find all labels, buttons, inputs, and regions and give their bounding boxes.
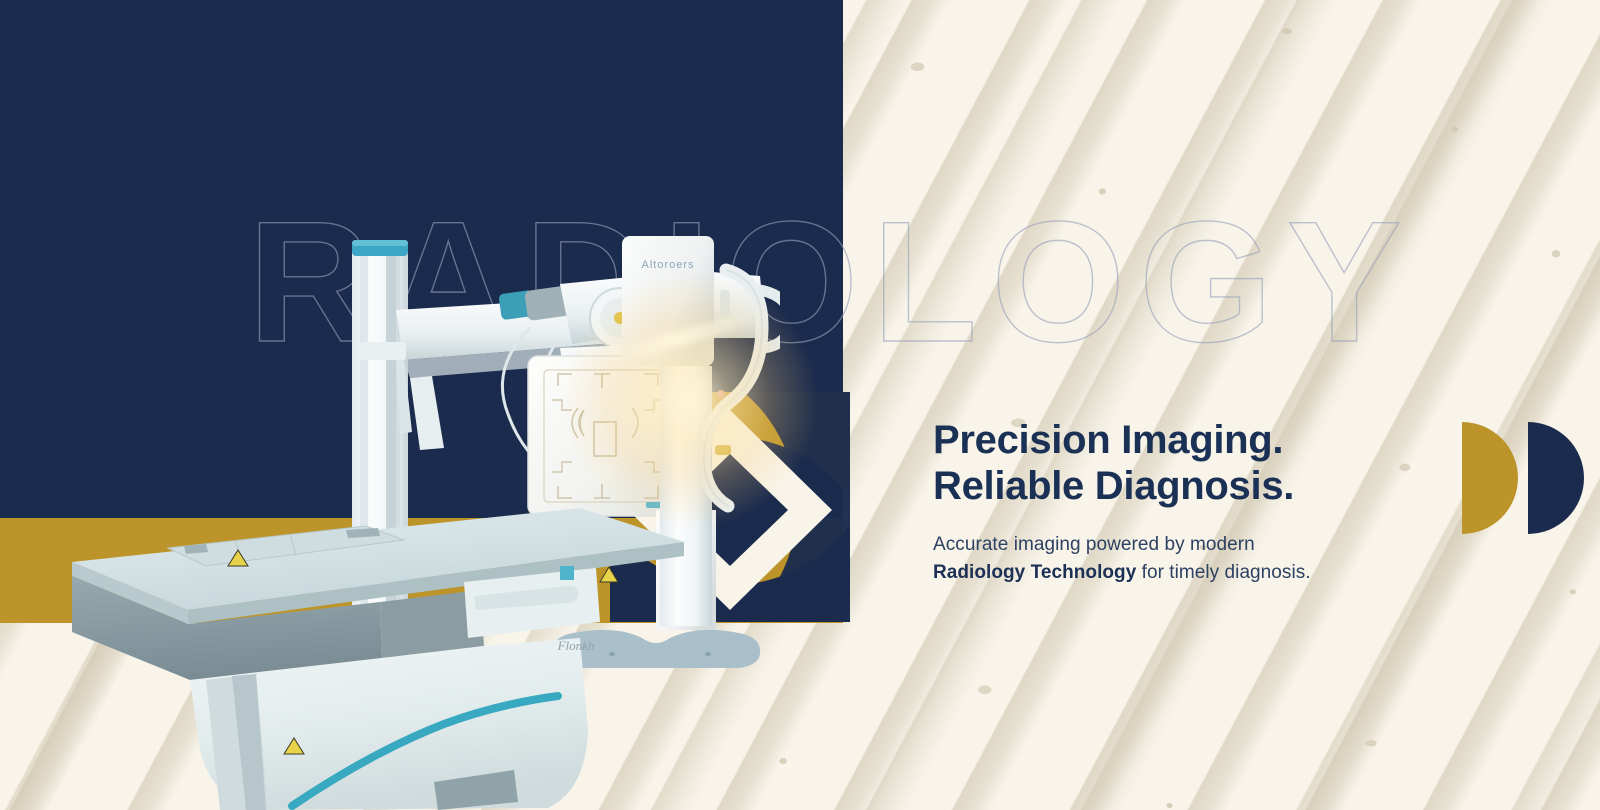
subcopy-lead: Accurate imaging powered by modern	[933, 534, 1255, 555]
gold-half-circle	[1462, 422, 1518, 534]
hero-copy-block: Precision Imaging. Reliable Diagnosis. A…	[933, 418, 1453, 586]
page-title: Precision Imaging. Reliable Diagnosis.	[933, 418, 1453, 509]
navy-half-circle	[1528, 422, 1584, 534]
radiology-hero-banner: RADIOLOGY	[0, 0, 1600, 810]
headline-line-1: Precision Imaging.	[933, 418, 1453, 464]
half-circle-decoration	[1450, 418, 1600, 538]
subcopy-tail: for timely diagnosis.	[1136, 562, 1310, 583]
headline-line-2: Reliable Diagnosis.	[933, 464, 1453, 510]
equipment-brand-label: Altoroers	[641, 259, 694, 271]
table-brand-label: Flonkb	[557, 638, 595, 653]
subcopy-emphasis: Radiology Technology	[933, 562, 1136, 583]
xray-machine-illustration: Altoroers	[60, 210, 780, 810]
hero-subcopy: Accurate imaging powered by modern Radio…	[933, 531, 1453, 586]
